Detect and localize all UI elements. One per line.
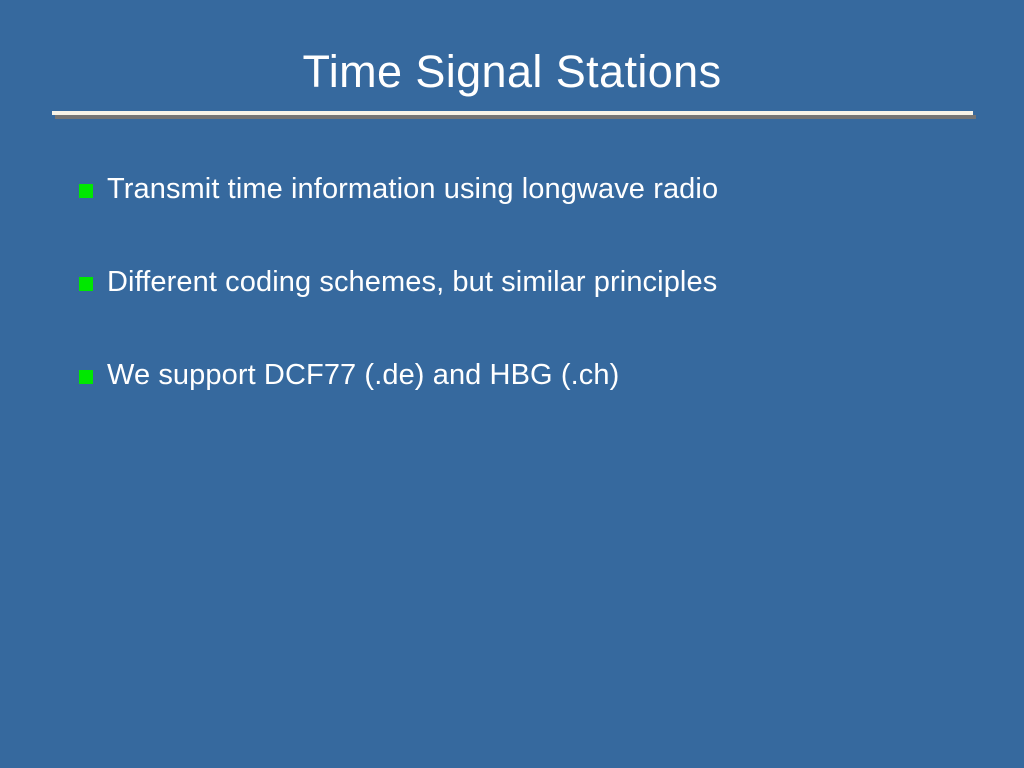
bullet-text: We support DCF77 (.de) and HBG (.ch) <box>107 356 619 394</box>
title-divider-shadow <box>55 115 976 119</box>
list-item: Transmit time information using longwave… <box>79 170 979 263</box>
presentation-slide: Time Signal Stations Transmit time infor… <box>0 0 1024 768</box>
title-divider-line <box>52 111 973 115</box>
title-divider <box>52 111 973 119</box>
bullet-list: Transmit time information using longwave… <box>79 170 979 449</box>
bullet-text: Transmit time information using longwave… <box>107 170 718 208</box>
slide-title-block: Time Signal Stations <box>0 46 1024 98</box>
square-bullet-icon <box>79 184 93 198</box>
page-title: Time Signal Stations <box>0 46 1024 98</box>
bullet-text: Different coding schemes, but similar pr… <box>107 263 717 301</box>
square-bullet-icon <box>79 277 93 291</box>
square-bullet-icon <box>79 370 93 384</box>
list-item: Different coding schemes, but similar pr… <box>79 263 979 356</box>
list-item: We support DCF77 (.de) and HBG (.ch) <box>79 356 979 449</box>
